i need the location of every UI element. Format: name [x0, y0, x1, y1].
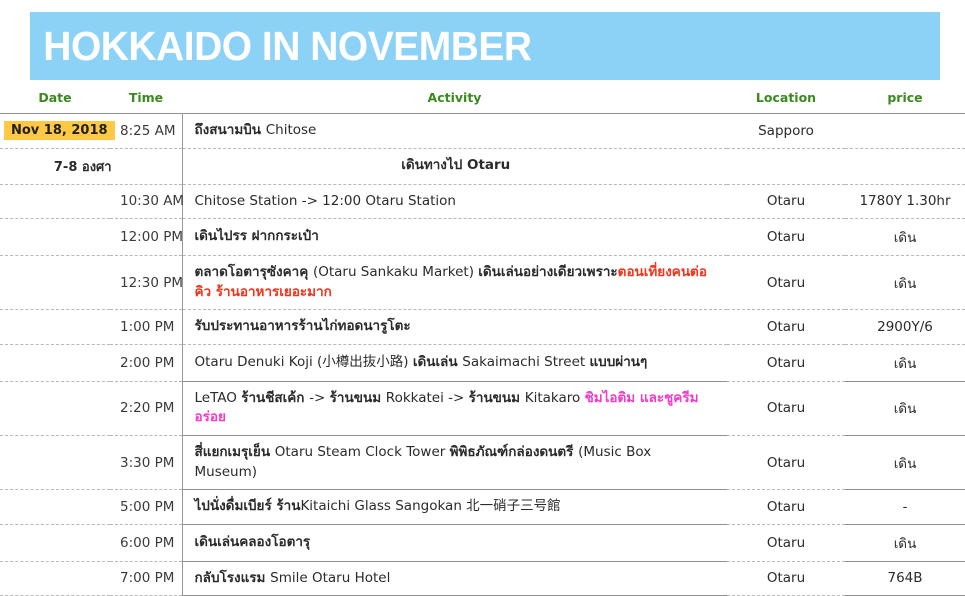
cell-time: 5:00 PM — [110, 490, 182, 525]
activity-text-thai: ถึงสนามบิน — [195, 122, 266, 138]
activity-text-thai: ตลาดโอตารุซังคาคุ — [195, 264, 313, 280]
date-highlight-chip: Nov 18, 2018 — [4, 121, 115, 140]
activity-text-thai-2: เดินเล่นอย่างเดียวเพราะ — [478, 264, 617, 280]
cell-date — [0, 524, 110, 561]
table-row: 7:00 PM กลับโรงแรม Smile Otaru Hotel Ota… — [0, 561, 965, 596]
cell-time: 10:30 AM — [110, 184, 182, 219]
cell-time: 2:00 PM — [110, 344, 182, 381]
activity-text-latin: Otaru Steam Clock Tower — [275, 444, 450, 460]
cell-date — [0, 435, 110, 489]
activity-text-thai: เดินทางไป — [401, 157, 467, 173]
cell-date — [0, 344, 110, 381]
activity-text-latin: Kitaichi Glass Sangokan — [300, 498, 466, 514]
table-row: 2:00 PM Otaru Denuki Koji (小樽出抜小路) เดินเ… — [0, 344, 965, 381]
activity-text-thai: ไปนั่งดื่มเบียร์ ร้าน — [195, 498, 301, 514]
cell-price: เดิน — [845, 381, 965, 435]
itinerary-page: HOKKAIDO IN NOVEMBER Date Time Activity … — [0, 0, 965, 521]
activity-text-thai-3: แบบผ่านๆ — [589, 354, 647, 370]
activity-text-japanese: 北一硝子三号館 — [466, 498, 561, 514]
cell-price — [845, 114, 965, 149]
cell-time: 8:25 AM — [110, 114, 182, 149]
activity-text-thai: รับประทานอาหารร้านไก่ทอดนารูโตะ — [195, 318, 411, 334]
activity-text-thai-2: เดินเล่น — [413, 354, 462, 370]
cell-date — [0, 256, 110, 310]
cell-activity: ตลาดโอตารุซังคาคุ (Otaru Sankaku Market)… — [182, 256, 727, 310]
activity-text-latin: Chitose — [266, 122, 317, 138]
cell-activity: รับประทานอาหารร้านไก่ทอดนารูโตะ — [182, 310, 727, 345]
cell-weather: 7-8 องศา — [0, 148, 182, 184]
cell-price: 764B — [845, 561, 965, 596]
column-header-location: Location — [727, 90, 845, 114]
table-row: 2:20 PM LeTAO ร้านชีสเค้ก -> ร้านขนม Rok… — [0, 381, 965, 435]
cell-location: Otaru — [727, 184, 845, 219]
activity-text-thai-2: ร้านขนม — [330, 390, 386, 406]
column-header-activity: Activity — [182, 90, 727, 114]
table-row: 12:00 PM เดินไปรร ฝากกระเป๋า Otaru เดิน — [0, 219, 965, 256]
title-banner: HOKKAIDO IN NOVEMBER — [30, 12, 940, 80]
cell-location: Otaru — [727, 381, 845, 435]
cell-location — [727, 148, 845, 184]
column-header-date: Date — [0, 90, 110, 114]
cell-date — [0, 561, 110, 596]
activity-text-thai: เดินเล่นคลองโอตารุ — [195, 534, 311, 550]
table-header: Date Time Activity Location price — [0, 90, 965, 114]
cell-time: 6:00 PM — [110, 524, 182, 561]
activity-text-thai: ร้านชีสเค้ก — [241, 390, 309, 406]
cell-date: Nov 18, 2018 — [0, 114, 110, 149]
cell-date — [0, 381, 110, 435]
activity-text-latin: Otaru Denuki Koji — [195, 354, 318, 370]
cell-time: 12:30 PM — [110, 256, 182, 310]
activity-text-thai: เดินไปรร ฝากกระเป๋า — [195, 228, 319, 244]
cell-price: - — [845, 490, 965, 525]
cell-price: เดิน — [845, 524, 965, 561]
table-body: Nov 18, 2018 8:25 AM ถึงสนามบิน Chitose … — [0, 114, 965, 596]
cell-date — [0, 310, 110, 345]
activity-text-thai-2: พิพิธภัณฑ์กล่องดนตรี — [450, 444, 579, 460]
activity-text-thai: กลับโรงแรม — [195, 570, 271, 586]
cell-time: 12:00 PM — [110, 219, 182, 256]
table-row: 12:30 PM ตลาดโอตารุซังคาคุ (Otaru Sankak… — [0, 256, 965, 310]
cell-date — [0, 219, 110, 256]
activity-text-latin-3: Rokkatei -> — [386, 390, 469, 406]
activity-text-latin: LeTAO — [195, 390, 242, 406]
activity-text-latin: (Otaru Sankaku Market) — [313, 264, 478, 280]
cell-location: Otaru — [727, 344, 845, 381]
cell-location: Otaru — [727, 310, 845, 345]
table-row: 7-8 องศา เดินทางไป Otaru — [0, 148, 965, 184]
cell-date — [0, 490, 110, 525]
cell-activity: สี่แยกเมรุเย็น Otaru Steam Clock Tower พ… — [182, 435, 727, 489]
column-header-time: Time — [110, 90, 182, 114]
cell-location: Otaru — [727, 219, 845, 256]
column-header-price: price — [845, 90, 965, 114]
cell-activity: เดินไปรร ฝากกระเป๋า — [182, 219, 727, 256]
cell-price: เดิน — [845, 435, 965, 489]
itinerary-table: Date Time Activity Location price Nov 18… — [0, 90, 965, 596]
cell-location: Otaru — [727, 561, 845, 596]
itinerary-table-wrapper: Date Time Activity Location price Nov 18… — [0, 90, 965, 596]
cell-price — [845, 148, 965, 184]
cell-activity: ถึงสนามบิน Chitose — [182, 114, 727, 149]
cell-location: Sapporo — [727, 114, 845, 149]
cell-time: 1:00 PM — [110, 310, 182, 345]
cell-location: Otaru — [727, 490, 845, 525]
table-row: 1:00 PM รับประทานอาหารร้านไก่ทอดนารูโตะ … — [0, 310, 965, 345]
cell-activity: เดินเล่นคลองโอตารุ — [182, 524, 727, 561]
table-row: Nov 18, 2018 8:25 AM ถึงสนามบิน Chitose … — [0, 114, 965, 149]
table-row: 10:30 AM Chitose Station -> 12:00 Otaru … — [0, 184, 965, 219]
activity-text-latin: Chitose Station -> 12:00 Otaru Station — [195, 193, 456, 209]
activity-text-japanese: (小樽出抜小路) — [317, 354, 413, 370]
table-row: 5:00 PM ไปนั่งดื่มเบียร์ ร้านKitaichi Gl… — [0, 490, 965, 525]
cell-time: 2:20 PM — [110, 381, 182, 435]
cell-activity: ไปนั่งดื่มเบียร์ ร้านKitaichi Glass Sang… — [182, 490, 727, 525]
activity-text-latin-2: -> — [309, 390, 329, 406]
cell-price: 1780Y 1.30hr — [845, 184, 965, 219]
cell-location: Otaru — [727, 435, 845, 489]
activity-text-latin: Smile Otaru Hotel — [270, 570, 390, 586]
table-row: 6:00 PM เดินเล่นคลองโอตารุ Otaru เดิน — [0, 524, 965, 561]
cell-time: 7:00 PM — [110, 561, 182, 596]
cell-price: เดิน — [845, 256, 965, 310]
header-row: Date Time Activity Location price — [0, 90, 965, 114]
activity-text-thai: สี่แยกเมรุเย็น — [195, 444, 275, 460]
table-row: 3:30 PM สี่แยกเมรุเย็น Otaru Steam Clock… — [0, 435, 965, 489]
cell-price: 2900Y/6 — [845, 310, 965, 345]
cell-activity: เดินทางไป Otaru — [182, 148, 727, 184]
cell-activity: Chitose Station -> 12:00 Otaru Station — [182, 184, 727, 219]
cell-time: 3:30 PM — [110, 435, 182, 489]
cell-location: Otaru — [727, 256, 845, 310]
cell-activity: Otaru Denuki Koji (小樽出抜小路) เดินเล่น Saka… — [182, 344, 727, 381]
activity-text-latin-2: Sakaimachi Street — [462, 354, 589, 370]
page-title: HOKKAIDO IN NOVEMBER — [30, 26, 532, 67]
cell-activity: กลับโรงแรม Smile Otaru Hotel — [182, 561, 727, 596]
cell-location: Otaru — [727, 524, 845, 561]
cell-price: เดิน — [845, 344, 965, 381]
activity-text-thai-3: ร้านขนม — [469, 390, 525, 406]
cell-activity: LeTAO ร้านชีสเค้ก -> ร้านขนม Rokkatei ->… — [182, 381, 727, 435]
activity-text-latin: Otaru — [467, 157, 510, 173]
cell-price: เดิน — [845, 219, 965, 256]
cell-date — [0, 184, 110, 219]
activity-text-latin-4: Kitakaro — [525, 390, 585, 406]
